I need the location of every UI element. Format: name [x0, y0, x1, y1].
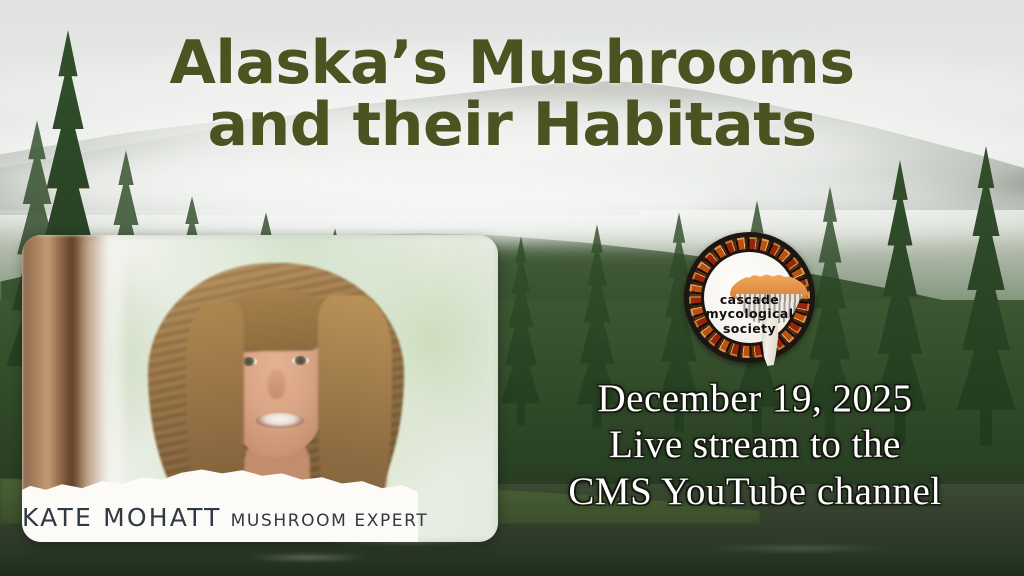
- mouth: [256, 413, 304, 428]
- title-line-2: and their Habitats: [0, 94, 1024, 156]
- eye-right: [292, 356, 309, 365]
- society-logo[interactable]: cascade mycological society: [684, 232, 815, 363]
- logo-text-line-3: society: [704, 322, 795, 336]
- speaker-name: KATE MOHATT: [22, 503, 222, 532]
- title-line-1: Alaska’s Mushrooms: [169, 28, 854, 98]
- event-line-3: CMS YouTube channel: [505, 469, 1005, 515]
- logo-text-line-1: cascade: [704, 293, 795, 307]
- page-title: Alaska’s Mushrooms and their Habitats: [0, 32, 1024, 157]
- promo-flyer: Alaska’s Mushrooms and their Habitats KA: [0, 0, 1024, 576]
- logo-face: cascade mycological society: [704, 252, 795, 343]
- logo-text-line-2: mycological: [704, 307, 795, 321]
- speaker-video-panel[interactable]: KATE MOHATTMUSHROOM EXPERT: [22, 235, 498, 542]
- nose: [268, 369, 285, 399]
- event-line-2: Live stream to the: [505, 422, 1005, 468]
- speaker-name-text: KATE MOHATTMUSHROOM EXPERT: [22, 503, 414, 532]
- speaker-role: MUSHROOM EXPERT: [231, 511, 429, 531]
- logo-text: cascade mycological society: [704, 293, 795, 336]
- event-date: December 19, 2025: [505, 376, 1005, 422]
- event-details: December 19, 2025 Live stream to the CMS…: [505, 376, 1005, 515]
